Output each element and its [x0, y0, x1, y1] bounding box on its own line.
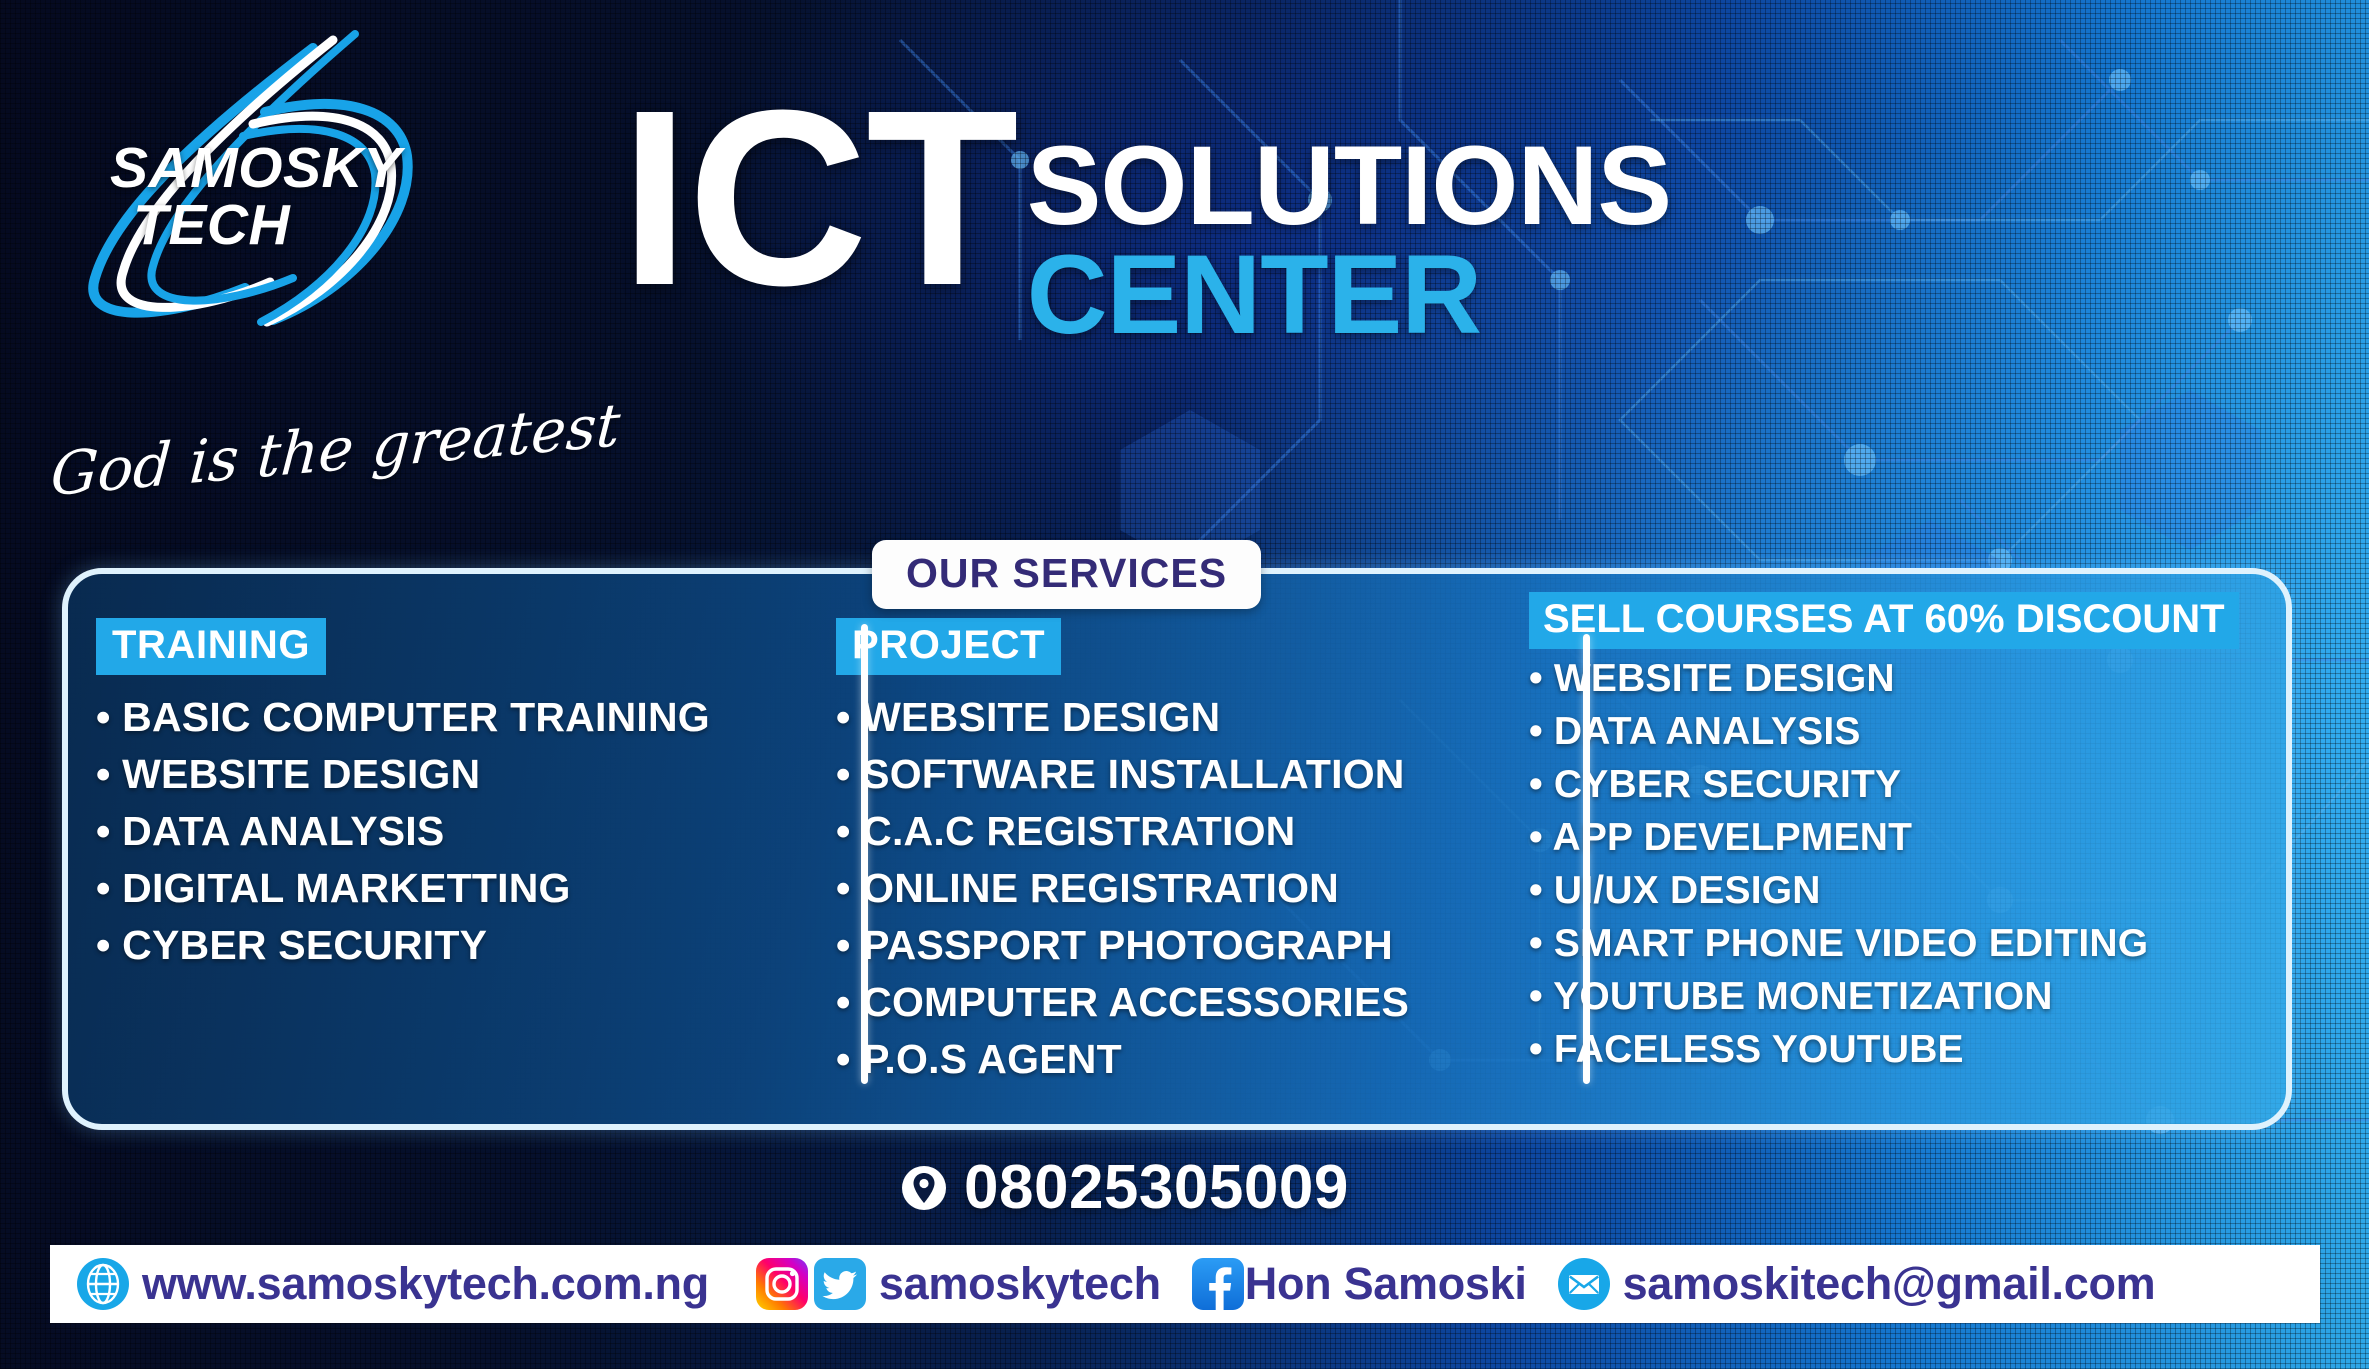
list-item: CYBER SECURITY [1529, 765, 2283, 804]
list-item: COMPUTER ACCESSORIES [836, 982, 1503, 1023]
email-icon [1557, 1257, 1611, 1311]
list-item: CYBER SECURITY [96, 925, 798, 966]
training-list: BASIC COMPUTER TRAINING WEBSITE DESIGN D… [96, 697, 798, 966]
website-contact[interactable]: www.samoskytech.com.ng [76, 1257, 709, 1311]
location-pin-icon [900, 1164, 948, 1212]
column-divider-2 [1583, 634, 1590, 1084]
email-address: samoskitech@gmail.com [1623, 1258, 2156, 1310]
facebook-contact[interactable]: Hon Samoski [1191, 1257, 1527, 1311]
phone-contact[interactable]: 08025305009 [900, 1152, 1349, 1223]
services-column-courses: SELL COURSES AT 60% DISCOUNT WEBSITE DES… [1503, 574, 2283, 1124]
services-panel: TRAINING BASIC COMPUTER TRAINING WEBSITE… [62, 568, 2292, 1130]
list-item: DATA ANALYSIS [1529, 712, 2283, 751]
twitter-icon [813, 1257, 867, 1311]
list-item: APP DEVELPMENT [1529, 818, 2283, 857]
title-sub-group: SOLUTIONS CENTER [1027, 132, 1671, 349]
column-tag-project: PROJECT [836, 618, 1061, 675]
list-item: BASIC COMPUTER TRAINING [96, 697, 798, 738]
list-item: SOFTWARE INSTALLATION [836, 754, 1503, 795]
our-services-ribbon: OUR SERVICES [872, 540, 1261, 609]
column-tag-training: TRAINING [96, 618, 326, 675]
title-solutions: SOLUTIONS [1027, 132, 1671, 240]
phone-number: 08025305009 [964, 1152, 1349, 1223]
list-item: WEBSITE DESIGN [96, 754, 798, 795]
flyer-poster: SAMOSKY TECH God is the greatest ICT SOL… [0, 0, 2369, 1369]
column-divider-1 [861, 624, 868, 1084]
list-item: PASSPORT PHOTOGRAPH [836, 925, 1503, 966]
website-url: www.samoskytech.com.ng [142, 1258, 709, 1310]
list-item: UI/UX DESIGN [1529, 871, 2283, 910]
facebook-name: Hon Samoski [1245, 1258, 1527, 1310]
title-center: CENTER [1027, 240, 1671, 350]
list-item: DIGITAL MARKETTING [96, 868, 798, 909]
globe-icon [76, 1257, 130, 1311]
instagram-twitter-contact[interactable]: samoskytech [755, 1257, 1161, 1311]
list-item: C.A.C REGISTRATION [836, 811, 1503, 852]
column-tag-discount-courses: SELL COURSES AT 60% DISCOUNT [1529, 592, 2239, 649]
list-item: YOUTUBE MONETIZATION [1529, 977, 2283, 1016]
title-ict: ICT [620, 90, 1017, 305]
page-title: ICT SOLUTIONS CENTER [620, 90, 1671, 349]
instagram-icon [755, 1257, 809, 1311]
services-columns: TRAINING BASIC COMPUTER TRAINING WEBSITE… [68, 574, 2286, 1124]
social-handle: samoskytech [879, 1258, 1161, 1310]
list-item: ONLINE REGISTRATION [836, 868, 1503, 909]
services-column-project: PROJECT WEBSITE DESIGN SOFTWARE INSTALLA… [798, 574, 1503, 1124]
project-list: WEBSITE DESIGN SOFTWARE INSTALLATION C.A… [836, 697, 1503, 1080]
courses-list: WEBSITE DESIGN DATA ANALYSIS CYBER SECUR… [1529, 659, 2283, 1069]
footer-contact-bar: www.samoskytech.com.ng [50, 1245, 2320, 1323]
logo-word-tech: TECH [133, 192, 290, 258]
list-item: WEBSITE DESIGN [836, 697, 1503, 738]
list-item: SMART PHONE VIDEO EDITING [1529, 924, 2283, 963]
samosky-tech-logo: SAMOSKY TECH [55, 20, 455, 330]
services-column-training: TRAINING BASIC COMPUTER TRAINING WEBSITE… [68, 574, 798, 1124]
list-item: P.O.S AGENT [836, 1039, 1503, 1080]
list-item: DATA ANALYSIS [96, 811, 798, 852]
list-item: WEBSITE DESIGN [1529, 659, 2283, 698]
list-item: FACELESS YOUTUBE [1529, 1030, 2283, 1069]
email-contact[interactable]: samoskitech@gmail.com [1557, 1257, 2156, 1311]
facebook-icon [1191, 1257, 1245, 1311]
